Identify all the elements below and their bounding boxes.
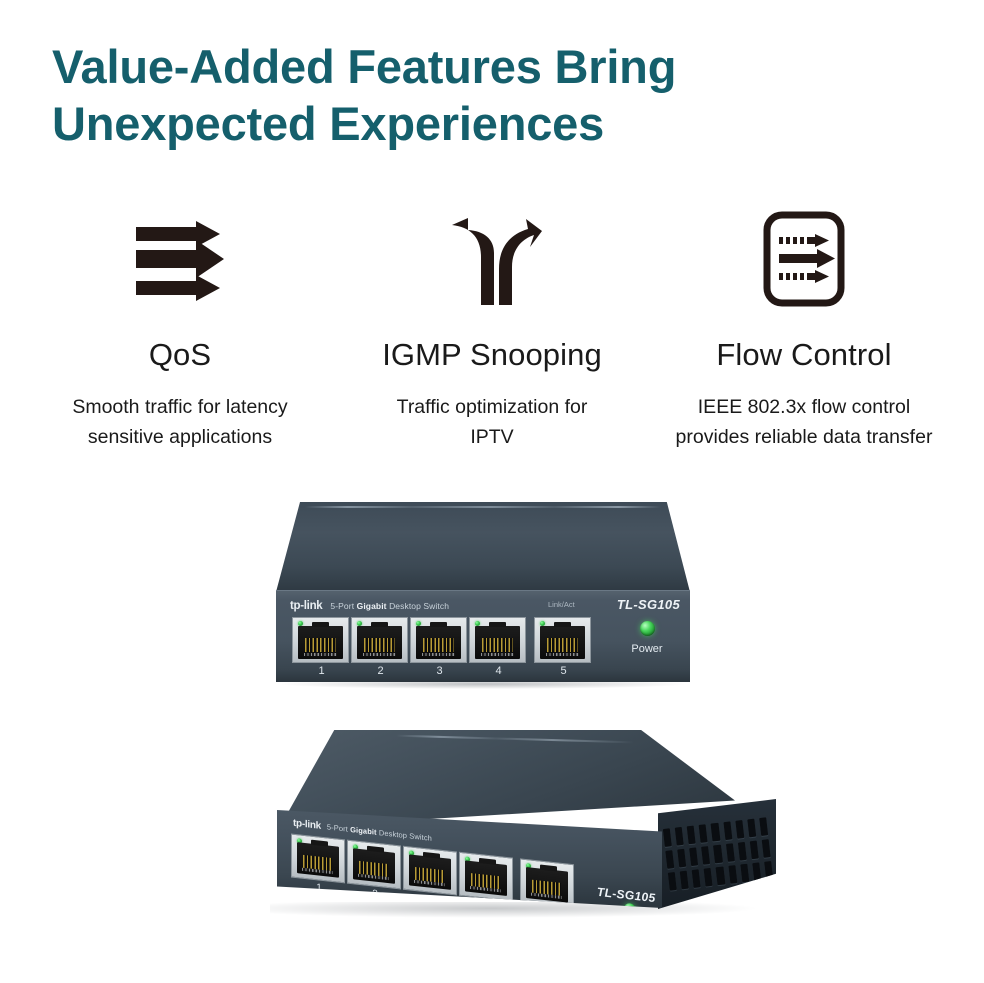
rj45-port-1[interactable] — [292, 617, 349, 663]
vent-grid — [663, 817, 773, 890]
rj45-jack-icon — [526, 867, 568, 903]
feature-title: Flow Control — [716, 337, 891, 373]
port-number: 3 — [410, 665, 469, 677]
flow-control-box-icon — [761, 205, 847, 313]
branching-arrow-icon — [442, 205, 542, 313]
rj45-jack-icon — [409, 854, 451, 890]
feature-item-igmp-snooping: IGMP Snooping Traffic optimization for I… — [336, 205, 648, 452]
desc-bold: Gigabit — [357, 601, 387, 611]
rj45-port-3[interactable] — [403, 846, 457, 896]
rj45-port-3[interactable] — [410, 617, 467, 663]
rj45-port-2[interactable] — [351, 617, 408, 663]
page-title-line-1: Value-Added Features Bring — [52, 38, 932, 95]
rj45-jack-icon — [298, 626, 343, 659]
port-number: 5 — [534, 665, 593, 677]
feature-description-line-2: sensitive applications — [72, 422, 287, 452]
feature-list: QoS Smooth traffic for latency sensitive… — [24, 205, 960, 452]
rj45-port-group — [291, 834, 576, 909]
feature-description-line-2: provides reliable data transfer — [676, 422, 933, 452]
feature-description-line-1: Smooth traffic for latency — [72, 392, 287, 422]
feature-description-line-1: Traffic optimization for — [397, 392, 588, 422]
product-image-area: tp-link 5-Port Gigabit Desktop Switch Li… — [0, 480, 984, 983]
product-switch-angled-view: tp-link 5-Port Gigabit Desktop Switch Li… — [252, 730, 752, 930]
port-number: 4 — [469, 665, 528, 677]
product-switch-front-view: tp-link 5-Port Gigabit Desktop Switch Li… — [276, 502, 690, 695]
rj45-port-1[interactable] — [291, 834, 345, 884]
feature-description: IEEE 802.3x flow control provides reliab… — [676, 392, 933, 452]
rj45-jack-icon — [540, 626, 585, 659]
switch-drop-shadow — [282, 679, 684, 689]
rj45-jack-icon — [465, 860, 507, 896]
feature-description-line-1: IEEE 802.3x flow control — [676, 392, 933, 422]
desc-pre: 5-Port — [327, 822, 350, 834]
desc-bold: Gigabit — [350, 825, 377, 837]
switch-front-panel: tp-link 5-Port Gigabit Desktop Switch Li… — [276, 590, 690, 682]
link-act-label: Link/Act — [548, 600, 575, 609]
feature-title: IGMP Snooping — [382, 337, 602, 373]
port-number: 1 — [292, 665, 351, 677]
power-label: Power — [620, 643, 674, 655]
feature-description: Smooth traffic for latency sensitive app… — [72, 392, 287, 452]
power-led-icon — [640, 621, 655, 636]
rj45-port-4[interactable] — [459, 852, 513, 902]
feature-title: QoS — [149, 337, 211, 373]
rj45-jack-icon — [416, 626, 461, 659]
switch-front-plate: tp-link 5-Port Gigabit Desktop Switch Li… — [277, 810, 662, 950]
feature-description-line-2: IPTV — [397, 422, 588, 452]
page-title: Value-Added Features Bring Unexpected Ex… — [52, 38, 932, 153]
rj45-port-group — [292, 617, 593, 663]
switch-drop-shadow — [270, 902, 760, 918]
power-label: Power — [607, 919, 653, 935]
rj45-port-5[interactable] — [520, 858, 574, 908]
desc-pre: 5-Port — [330, 601, 356, 611]
desc-post: Desktop Switch — [387, 601, 449, 611]
rj45-port-5[interactable] — [534, 617, 591, 663]
feature-item-flow-control: Flow Control IEEE 802.3x flow control pr… — [648, 205, 960, 452]
rj45-jack-icon — [357, 626, 402, 659]
desc-post: Desktop Switch — [377, 828, 432, 843]
rj45-jack-icon — [475, 626, 520, 659]
feature-description: Traffic optimization for IPTV — [397, 392, 588, 452]
switch-front-panel: tp-link 5-Port Gigabit Desktop Switch Li… — [277, 810, 662, 908]
switch-vent-panel — [658, 799, 776, 909]
tp-link-logo: tp-link — [290, 600, 322, 612]
rj45-jack-icon — [353, 848, 395, 884]
switch-description: 5-Port Gigabit Desktop Switch — [330, 601, 449, 611]
rj45-jack-icon — [297, 842, 339, 878]
tp-link-logo: tp-link — [293, 818, 321, 832]
rj45-port-2[interactable] — [347, 840, 401, 890]
switch-top-panel — [276, 502, 690, 592]
rj45-port-4[interactable] — [469, 617, 526, 663]
port-number-row: 1 2 3 4 5 — [292, 665, 593, 677]
feature-item-qos: QoS Smooth traffic for latency sensitive… — [24, 205, 336, 452]
three-arrows-icon — [134, 205, 226, 313]
page-title-line-2: Unexpected Experiences — [52, 95, 932, 152]
model-number-label: TL-SG105 — [617, 597, 680, 612]
port-number: 2 — [351, 665, 410, 677]
power-indicator-group: Power — [620, 621, 674, 655]
